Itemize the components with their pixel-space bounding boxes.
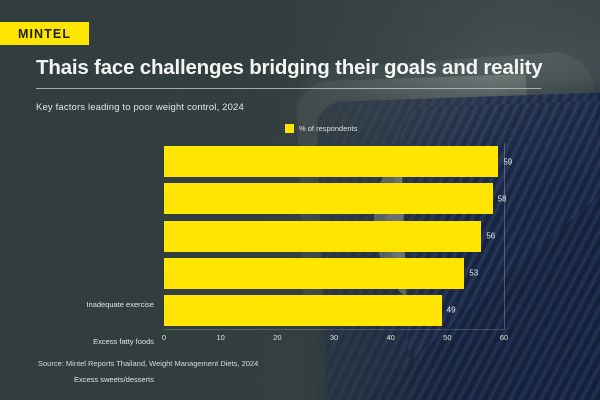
infographic-content: MINTEL Thais face challenges bridging th…: [0, 0, 600, 400]
mintel-logo-text: MINTEL: [18, 27, 71, 41]
chart-bar[interactable]: [164, 183, 493, 214]
chart-bar[interactable]: [164, 295, 442, 326]
chart-category-label: Excess fatty foods: [93, 326, 154, 357]
chart-category-label: Excess sweets/desserts: [74, 364, 154, 395]
page-subtitle: Key factors leading to poor weight contr…: [36, 102, 244, 113]
chart-bar-value-label: 59: [503, 157, 512, 166]
chart-bar-value-label: 53: [469, 269, 478, 278]
chart-bar[interactable]: [164, 258, 464, 289]
chart-bar-row[interactable]: 59: [164, 146, 504, 177]
chart-bar-row[interactable]: 58: [164, 183, 504, 214]
legend-swatch-icon: [285, 124, 294, 133]
chart-bar-row[interactable]: 53: [164, 258, 504, 289]
bar-chart: 5958565349 0102030405060 Inadequate exer…: [0, 143, 600, 343]
chart-plot-area: 5958565349: [164, 143, 504, 329]
chart-bar-value-label: 56: [486, 232, 495, 241]
chart-bar-value-label: 58: [498, 194, 507, 203]
chart-bar-row[interactable]: 56: [164, 221, 504, 252]
chart-bar[interactable]: [164, 221, 481, 252]
chart-x-tick-label: 40: [386, 333, 394, 342]
chart-gridline: [504, 143, 505, 329]
chart-x-tick-label: 60: [500, 333, 508, 342]
chart-x-tick-label: 0: [162, 333, 166, 342]
chart-category-label: Inadequate exercise: [86, 289, 154, 320]
chart-x-tick-label: 20: [273, 333, 281, 342]
infographic-canvas: 0 KG 10 1kg MINTEL Thais face challenges…: [0, 0, 600, 400]
page-title: Thais face challenges bridging their goa…: [36, 56, 576, 80]
chart-axis-baseline: [164, 329, 505, 330]
chart-bar[interactable]: [164, 146, 498, 177]
title-divider: [36, 88, 541, 89]
chart-bar-value-label: 49: [447, 306, 456, 315]
mintel-logo: MINTEL: [0, 22, 89, 45]
source-note: Source: Mintel Reports Thailand, Weight …: [38, 359, 258, 368]
chart-bar-row[interactable]: 49: [164, 295, 504, 326]
chart-x-tick-label: 50: [443, 333, 451, 342]
chart-legend: % of respondents: [285, 124, 357, 133]
legend-label: % of respondents: [299, 124, 357, 133]
chart-x-tick-label: 10: [216, 333, 224, 342]
chart-x-tick-label: 30: [330, 333, 338, 342]
